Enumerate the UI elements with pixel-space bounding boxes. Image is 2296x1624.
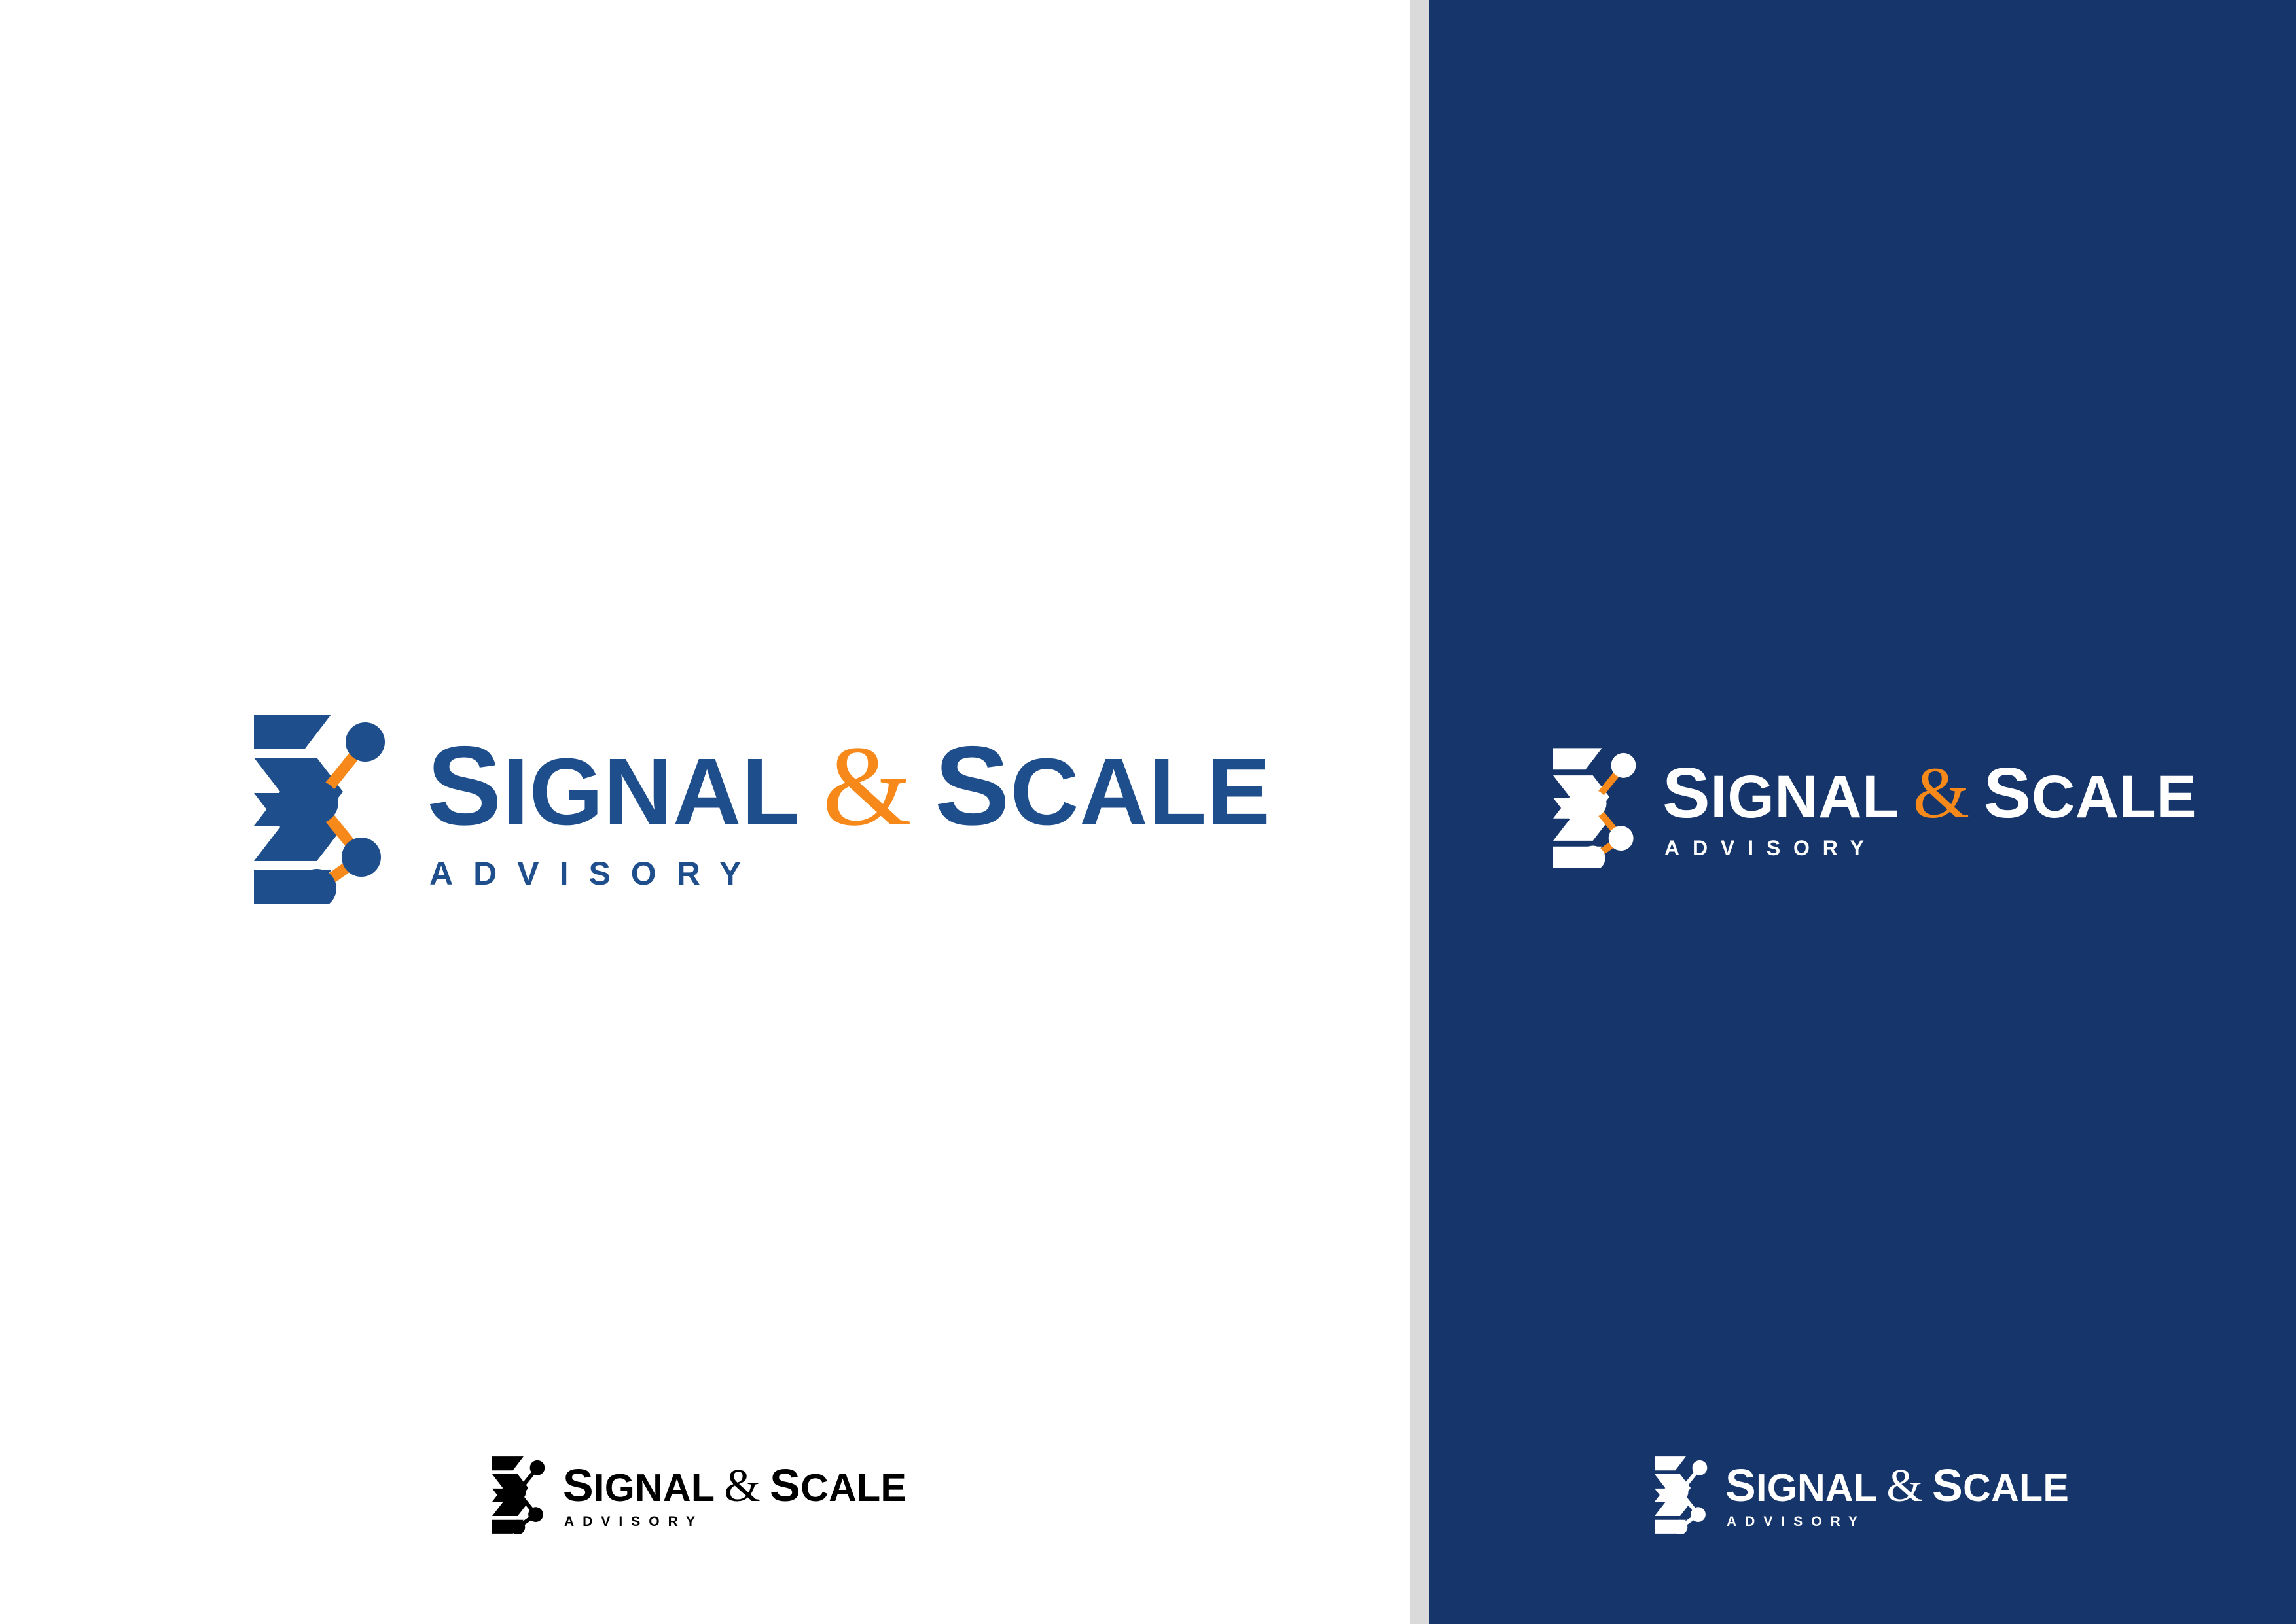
wordmark-ampersand: &: [823, 739, 912, 834]
signal-scale-chevron-node-mark: [1655, 1456, 1711, 1534]
wordmark-ampersand: &: [1913, 764, 1970, 823]
wordmark-ampersand: &: [724, 1467, 761, 1506]
wordmark-scale-cap: S: [770, 1467, 800, 1504]
signal-scale-chevron-node-mark: [254, 715, 393, 904]
wordmark-scale-rest: CALE: [1963, 1472, 2069, 1504]
signal-scale-chevron-node-mark: [1553, 748, 1641, 868]
wordmark-signal-rest: IGNAL: [1756, 1472, 1877, 1504]
wordmark-signal-cap: S: [1725, 1467, 1756, 1504]
wordmark-scale-rest: CALE: [1011, 752, 1271, 830]
panel-divider-strip: [1410, 0, 1429, 1624]
brand-tagline: ADVISORY: [1664, 838, 1877, 858]
signal-scale-chevron-node-mark: [492, 1456, 548, 1534]
wordmark-group: SIGNAL&SCALE ADVISORY: [1662, 748, 2197, 858]
wordmark-group: SIGNAL&SCALE ADVISORY: [1725, 1456, 2069, 1528]
brand-tagline: ADVISORY: [429, 857, 761, 890]
wordmark-group: SIGNAL&SCALE ADVISORY: [563, 1456, 906, 1528]
wordmark-scale-rest: CALE: [800, 1472, 906, 1504]
wordmark-scale-cap: S: [935, 740, 1011, 832]
brand-wordmark: SIGNAL&SCALE: [1662, 764, 2197, 823]
wordmark-signal-cap: S: [1662, 764, 1710, 822]
wordmark-group: SIGNAL&SCALE ADVISORY: [427, 715, 1270, 890]
wordmark-scale-cap: S: [1932, 1467, 1963, 1504]
brand-tagline: ADVISORY: [564, 1515, 704, 1528]
wordmark-scale-cap: S: [1984, 764, 2032, 822]
wordmark-signal-cap: S: [427, 740, 503, 832]
logo-presentation-canvas: SIGNAL&SCALE ADVISORY: [0, 0, 2296, 1624]
brand-wordmark: SIGNAL&SCALE: [1725, 1467, 2069, 1506]
monochrome-black-lockup: SIGNAL&SCALE ADVISORY: [492, 1456, 906, 1534]
wordmark-scale-rest: CALE: [2032, 772, 2197, 822]
wordmark-ampersand: &: [1886, 1467, 1923, 1506]
reversed-lockup: SIGNAL&SCALE ADVISORY: [1553, 748, 2197, 868]
primary-color-lockup: SIGNAL&SCALE ADVISORY: [254, 715, 1270, 904]
wordmark-signal-cap: S: [563, 1467, 594, 1504]
wordmark-signal-rest: IGNAL: [503, 752, 800, 830]
brand-tagline: ADVISORY: [1727, 1515, 1866, 1528]
wordmark-signal-rest: IGNAL: [594, 1472, 715, 1504]
brand-wordmark: SIGNAL&SCALE: [427, 739, 1270, 834]
brand-wordmark: SIGNAL&SCALE: [563, 1467, 906, 1506]
monochrome-white-lockup: SIGNAL&SCALE ADVISORY: [1655, 1456, 2069, 1534]
wordmark-signal-rest: IGNAL: [1710, 772, 1899, 822]
